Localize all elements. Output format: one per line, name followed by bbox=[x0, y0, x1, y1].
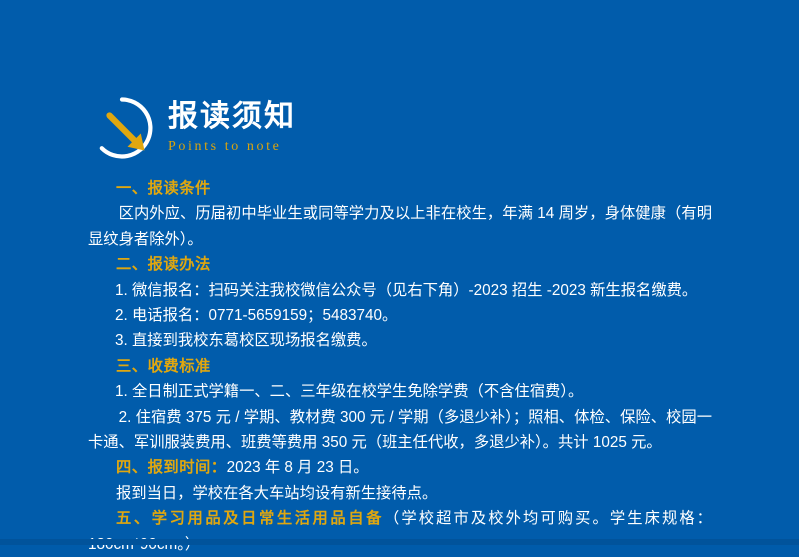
section-two-item-2: 2. 电话报名：0771-5659159；5483740。 bbox=[88, 303, 712, 328]
section-one-paragraph: 区内外应、历届初中毕业生或同等学力及以上非在校生，年满 14 周岁，身体健康（有… bbox=[88, 201, 712, 252]
poster-slide: 报读须知 Points to note 一、报读条件 区内外应、历届初中毕业生或… bbox=[0, 0, 799, 545]
section-two-item-3: 3. 直接到我校东葛校区现场报名缴费。 bbox=[88, 328, 712, 353]
section-three-heading: 三、收费标准 bbox=[88, 354, 712, 379]
content-body: 一、报读条件 区内外应、历届初中毕业生或同等学力及以上非在校生，年满 14 周岁… bbox=[88, 176, 712, 557]
section-one-heading: 一、报读条件 bbox=[88, 176, 712, 201]
section-four-paragraph: 报到当日，学校在各大车站均设有新生接待点。 bbox=[88, 481, 712, 506]
clock-arrow-icon bbox=[88, 94, 156, 162]
section-five: 五、学习用品及日常生活用品自备（学校超市及校外均可购买。学生床规格：180cm*… bbox=[88, 506, 712, 557]
page-subtitle: Points to note bbox=[168, 137, 296, 157]
section-four-heading: 四、报到时间： bbox=[116, 459, 227, 476]
section-two-heading: 二、报读办法 bbox=[88, 252, 712, 277]
section-three-item-2: 2. 住宿费 375 元 / 学期、教材费 300 元 / 学期（多退少补）；照… bbox=[88, 405, 712, 456]
section-four-date: 2023 年 8 月 23 日。 bbox=[227, 459, 369, 476]
section-four-heading-row: 四、报到时间：2023 年 8 月 23 日。 bbox=[88, 455, 712, 480]
section-two-item-1: 1. 微信报名：扫码关注我校微信公众号（见右下角）-2023 招生 -2023 … bbox=[88, 278, 712, 303]
section-three-item-1: 1. 全日制正式学籍一、二、三年级在校学生免除学费（不含住宿费）。 bbox=[88, 379, 712, 404]
page-title: 报读须知 bbox=[168, 100, 296, 134]
section-five-heading: 五、学习用品及日常生活用品自备 bbox=[116, 510, 384, 527]
header: 报读须知 Points to note bbox=[88, 94, 296, 162]
bottom-strip bbox=[0, 539, 799, 545]
header-titles: 报读须知 Points to note bbox=[168, 100, 296, 157]
